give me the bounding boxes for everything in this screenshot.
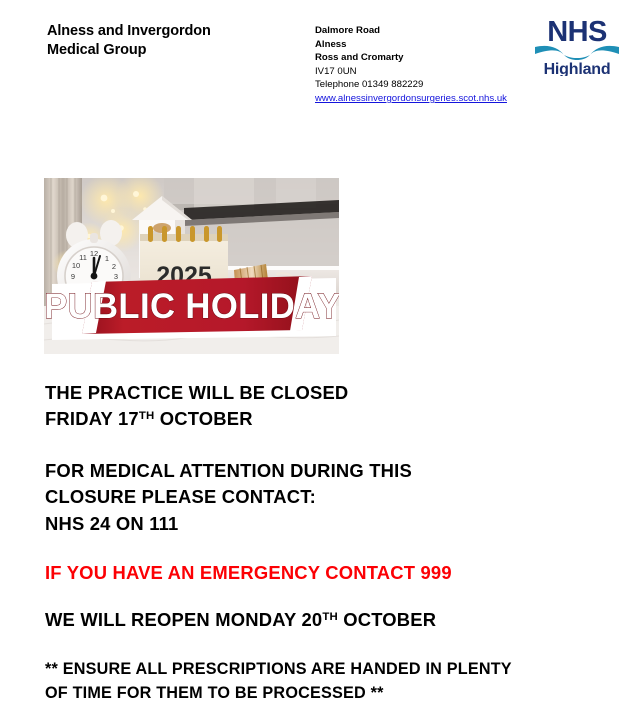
prescriptions-line-1: ** ENSURE ALL PRESCRIPTIONS ARE HANDED I… [45, 658, 605, 682]
address-region: Ross and Cromarty [315, 51, 507, 65]
spacer-2 [45, 537, 605, 560]
practice-name: Alness and Invergordon Medical Group [47, 22, 287, 59]
closure-date-month: OCTOBER [154, 408, 252, 429]
prescriptions-notice: ** ENSURE ALL PRESCRIPTIONS ARE HANDED I… [45, 658, 605, 706]
svg-text:2: 2 [112, 262, 116, 271]
practice-name-line-1: Alness and Invergordon [47, 22, 287, 41]
nhs-swoosh-center-icon [564, 55, 590, 60]
address-town: Alness [315, 38, 507, 52]
closure-date-ordinal: TH [139, 410, 155, 422]
svg-text:3: 3 [114, 272, 118, 281]
contact-line-2: CLOSURE PLEASE CONTACT: [45, 484, 605, 510]
closure-notice: THE PRACTICE WILL BE CLOSED FRIDAY 17TH … [45, 380, 605, 706]
svg-text:10: 10 [72, 261, 80, 270]
closure-date-prefix: FRIDAY 17 [45, 408, 139, 429]
closure-line-1: THE PRACTICE WILL BE CLOSED [45, 380, 605, 406]
spacer-4 [45, 633, 605, 658]
public-holiday-banner-text: PUBLIC HOLIDAY [44, 287, 339, 326]
contact-line-3: NHS 24 ON 111 [45, 511, 605, 537]
practice-website-link[interactable]: www.alnessinvergordonsurgeries.scot.nhs.… [315, 92, 507, 106]
svg-text:9: 9 [71, 272, 75, 281]
address-telephone: Telephone 01349 882229 [315, 78, 507, 92]
spacer-1 [45, 432, 605, 458]
practice-name-line-2: Medical Group [47, 41, 287, 60]
public-holiday-photo: 2025 12 3 6 9 1 [44, 178, 339, 354]
spacer-3 [45, 586, 605, 607]
medical-attention-statement: FOR MEDICAL ATTENTION DURING THIS CLOSUR… [45, 458, 605, 536]
svg-text:12: 12 [90, 249, 98, 258]
nhs-logo-region-name: Highland [544, 61, 611, 76]
closure-line-2: FRIDAY 17TH OCTOBER [45, 406, 605, 432]
reopen-month: OCTOBER [338, 609, 436, 630]
closure-statement: THE PRACTICE WILL BE CLOSED FRIDAY 17TH … [45, 380, 605, 432]
reopen-prefix: WE WILL REOPEN MONDAY 20 [45, 609, 322, 630]
svg-text:1: 1 [105, 254, 109, 263]
address-postcode: IV17 0UN [315, 65, 507, 79]
practice-address-block: Dalmore Road Alness Ross and Cromarty IV… [315, 24, 507, 106]
nhs-logo-wordmark: NHS [547, 16, 607, 48]
emergency-statement: IF YOU HAVE AN EMERGENCY CONTACT 999 [45, 560, 605, 586]
contact-line-1: FOR MEDICAL ATTENTION DURING THIS [45, 458, 605, 484]
nhs-highland-logo: NHS Highland [530, 14, 624, 76]
reopen-statement: WE WILL REOPEN MONDAY 20TH OCTOBER [45, 607, 605, 633]
reopen-date-ordinal: TH [322, 611, 338, 623]
svg-text:11: 11 [79, 253, 87, 262]
prescriptions-line-2: OF TIME FOR THEM TO BE PROCESSED ** [45, 682, 605, 706]
address-street: Dalmore Road [315, 24, 507, 38]
